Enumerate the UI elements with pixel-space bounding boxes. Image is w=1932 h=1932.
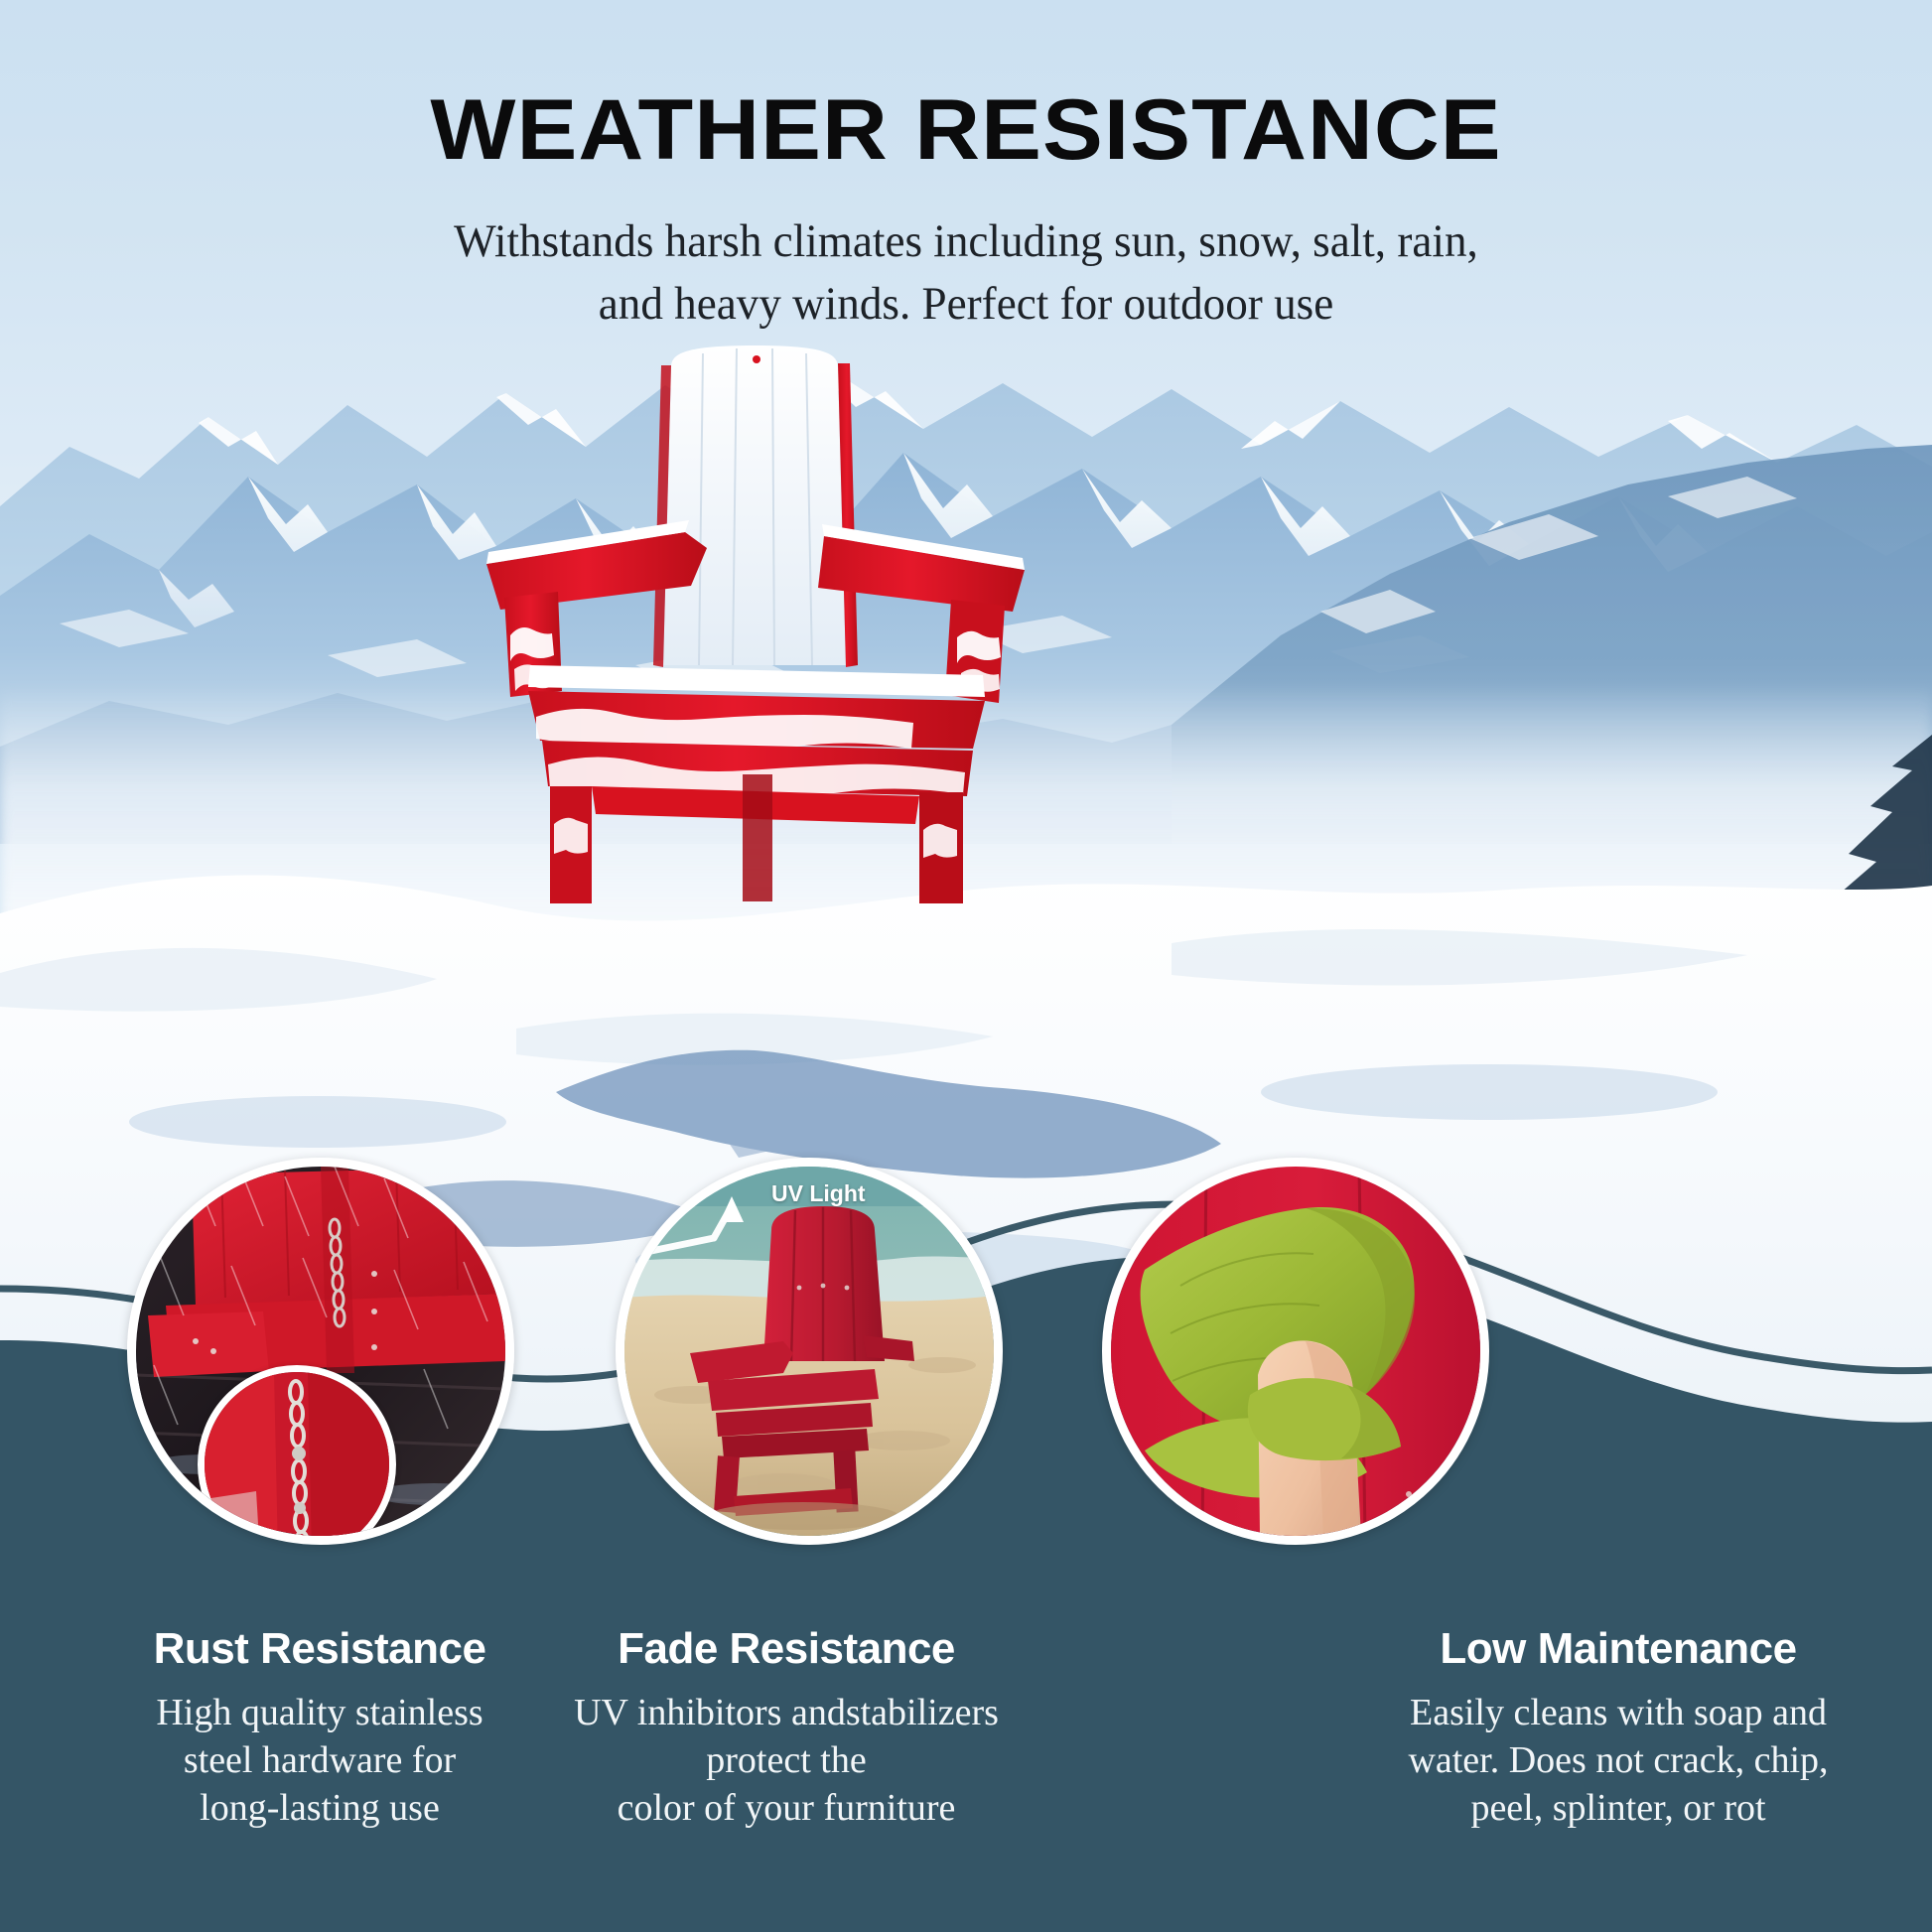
feature-desc-line-1: Easily cleans with soap and (1340, 1690, 1896, 1737)
feature-image-fade-resistance[interactable]: UV Light (616, 1158, 1003, 1545)
feature-desc-line-3: color of your furniture (508, 1785, 1064, 1833)
page-title: WEATHER RESISTANCE (0, 87, 1932, 173)
header-block: WEATHER RESISTANCE Withstands harsh clim… (0, 0, 1932, 336)
feature-desc-line-3: peel, splinter, or rot (1340, 1785, 1896, 1833)
feature-desc-low-maintenance: Easily cleans with soap and water. Does … (1340, 1690, 1896, 1833)
feature-caption-low-maintenance: Low Maintenance Easily cleans with soap … (1340, 1624, 1896, 1833)
feature-caption-fade-resistance: Fade Resistance UV inhibitors andstabili… (508, 1624, 1064, 1833)
chain-closeup (205, 1372, 389, 1545)
subtitle-line-1: Withstands harsh climates including sun,… (39, 210, 1893, 273)
page-subtitle: Withstands harsh climates including sun,… (39, 210, 1893, 336)
feature-desc-line-2: protect the (508, 1737, 1064, 1785)
cleaning-cloth-photo (1111, 1167, 1480, 1536)
feature-desc-fade-resistance: UV inhibitors andstabilizers protect the… (508, 1690, 1064, 1833)
feature-desc-line-2: water. Does not crack, chip, (1340, 1737, 1896, 1785)
feature-desc-line-1: UV inhibitors andstabilizers (508, 1690, 1064, 1737)
feature-image-low-maintenance[interactable] (1102, 1158, 1489, 1545)
hero-chair-snow-covered (477, 338, 1033, 913)
infographic-canvas: WEATHER RESISTANCE Withstands harsh clim… (0, 0, 1932, 1932)
feature-image-rust-resistance[interactable] (127, 1158, 514, 1545)
feature-title-fade-resistance: Fade Resistance (508, 1624, 1064, 1674)
subtitle-line-2: and heavy winds. Perfect for outdoor use (39, 273, 1893, 336)
beach-chair-photo (624, 1167, 994, 1536)
feature-title-low-maintenance: Low Maintenance (1340, 1624, 1896, 1674)
uv-light-callout-label: UV Light (771, 1180, 866, 1207)
